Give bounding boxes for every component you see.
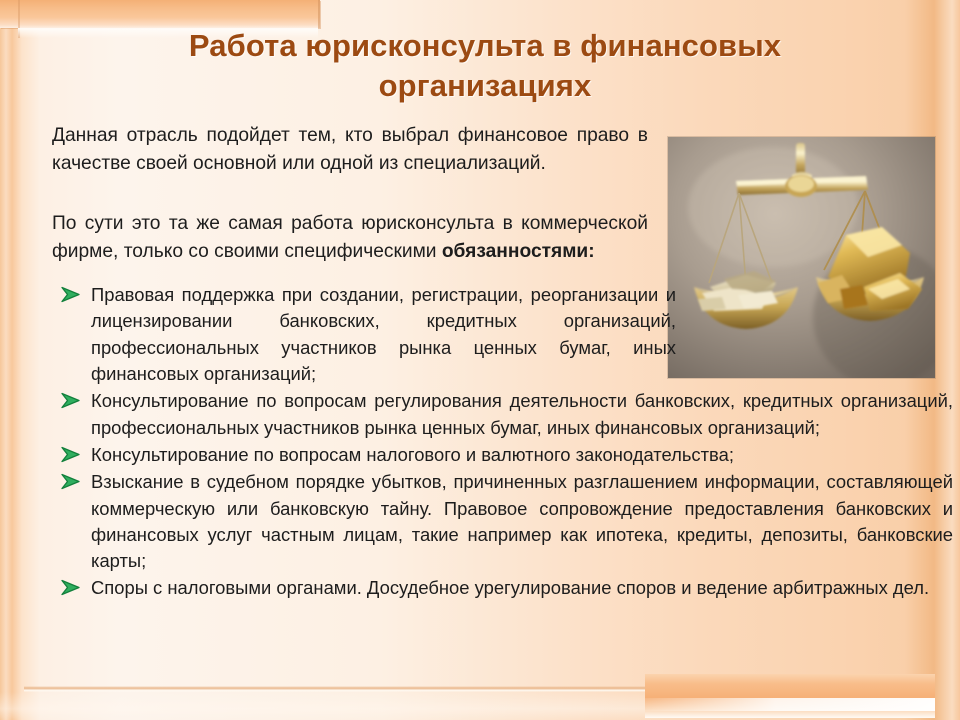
- intro-paragraph-1: Данная отрасль подойдет тем, кто выбрал …: [52, 122, 648, 177]
- list-item: Консультирование по вопросам налогового …: [58, 442, 953, 468]
- slide-canvas: Работа юрисконсульта в финансовых органи…: [0, 0, 960, 720]
- green-arrow-bullet-icon: [60, 286, 82, 303]
- green-arrow-bullet-icon: [60, 392, 82, 409]
- bottom-right-orange-block: [645, 674, 935, 718]
- green-arrow-bullet-icon: [60, 473, 82, 490]
- green-arrow-bullet-icon: [60, 579, 82, 596]
- list-item: Правовая поддержка при создании, регистр…: [58, 282, 676, 387]
- bottom-right-block-sheen: [645, 698, 935, 711]
- top-left-banner-decoration: [0, 0, 320, 28]
- green-arrow-bullet-icon: [60, 446, 82, 463]
- list-item-text: Споры с налоговыми органами. Досудебное …: [91, 577, 929, 598]
- list-item-text: Консультирование по вопросам регулирован…: [91, 390, 953, 437]
- list-item-text: Консультирование по вопросам налогового …: [91, 444, 734, 465]
- list-item-text: Взыскание в судебном порядке убытков, пр…: [91, 471, 953, 571]
- list-item: Взыскание в судебном порядке убытков, пр…: [58, 469, 953, 574]
- list-item-text: Правовая поддержка при создании, регистр…: [91, 284, 676, 384]
- intro-paragraph-2: По сути это та же самая работа юрисконсу…: [52, 210, 648, 265]
- slide-title: Работа юрисконсульта в финансовых органи…: [90, 26, 880, 107]
- intro-paragraph-2-emphasis: обязанностями:: [442, 241, 595, 262]
- list-item: Консультирование по вопросам регулирован…: [58, 388, 953, 441]
- duties-bullet-list: Правовая поддержка при создании, регистр…: [58, 282, 926, 603]
- list-item: Споры с налоговыми органами. Досудебное …: [58, 575, 953, 601]
- bottom-left-wash: [0, 692, 660, 720]
